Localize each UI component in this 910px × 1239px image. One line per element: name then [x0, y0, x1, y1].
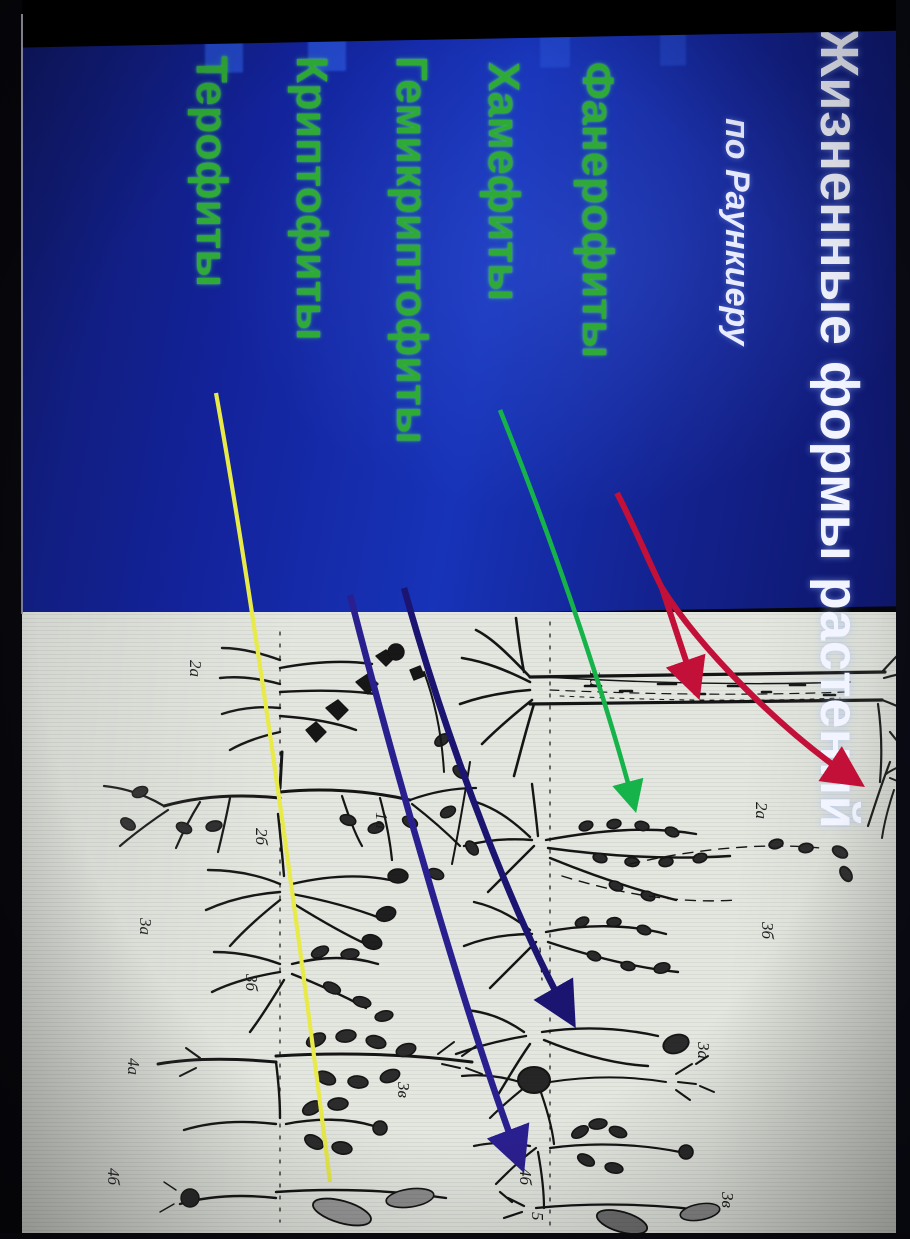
page-title: Жизненные формы растений: [808, 28, 870, 829]
screen-edge-glare: [21, 14, 23, 614]
category-label-chamaephytes: Хамефиты: [478, 62, 528, 302]
illustration-panel: 1а 1б 2а 3б 3а 3в 4б 5 2а 2б 1а 3а 3б 3в…: [20, 612, 910, 1239]
screen-bezel-right: [896, 0, 910, 1239]
screen-bezel-left: [0, 0, 22, 1239]
category-label-hemicryptophytes: Гемикриптофиты: [386, 56, 436, 444]
slide-blue-panel: [20, 2, 910, 620]
projector-scanlines: [20, 612, 910, 1239]
slide-photo: 1а 1б 2а 3б 3а 3в 4б 5 2а 2б 1а 3а 3б 3в…: [0, 0, 910, 1239]
page-subtitle: по Раункиеру: [717, 118, 756, 345]
category-label-phanerophytes: Фанерофиты: [572, 62, 622, 359]
category-label-therophytes: Терофиты: [186, 56, 236, 288]
category-label-cryptophytes: Криптофиты: [286, 56, 336, 341]
projector-sheen: [20, 2, 910, 620]
screen-bezel-bottom: [0, 1233, 910, 1239]
